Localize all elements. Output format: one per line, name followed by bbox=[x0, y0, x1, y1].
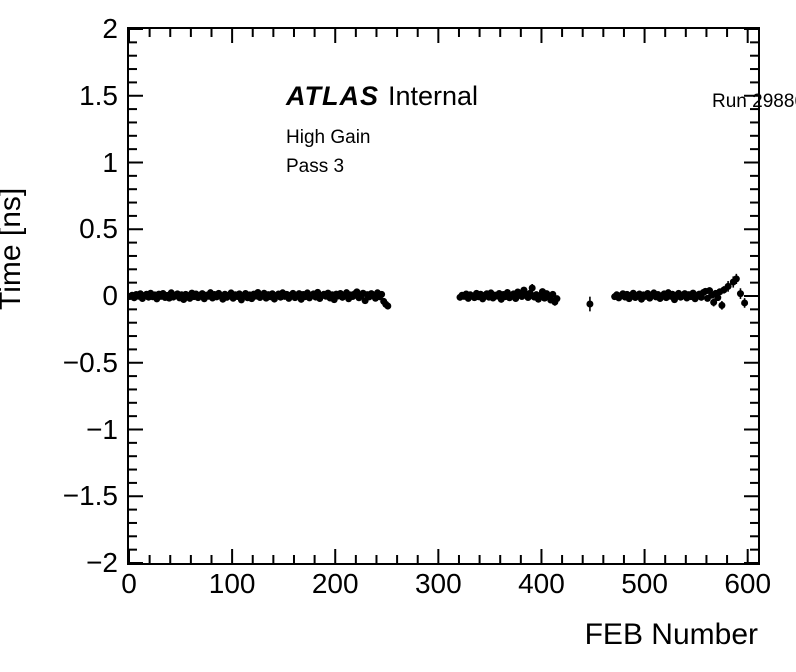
x-tick-label: 400 bbox=[481, 570, 601, 598]
data-point bbox=[737, 290, 744, 297]
x-tick-label: 500 bbox=[585, 570, 705, 598]
x-tick-label: 100 bbox=[172, 570, 292, 598]
x-axis-title: FEB Number bbox=[460, 618, 758, 652]
gain-label: High Gain bbox=[286, 127, 371, 149]
data-point bbox=[718, 302, 725, 309]
data-point bbox=[384, 303, 391, 310]
run-number-label: Run 298862 bbox=[712, 91, 796, 113]
atlas-status-label: Internal bbox=[388, 81, 478, 111]
data-point bbox=[553, 295, 560, 302]
plot-frame: ATLASInternal High Gain Pass 3 Run 29886… bbox=[127, 27, 760, 565]
atlas-label: ATLASInternal bbox=[286, 81, 478, 112]
atlas-experiment-label: ATLAS bbox=[286, 81, 388, 111]
data-point bbox=[733, 275, 740, 282]
figure-canvas: Time [ns] −2−1.5−1−0.500.511.52 01002003… bbox=[0, 0, 796, 672]
pass-label: Pass 3 bbox=[286, 156, 344, 178]
data-point bbox=[741, 299, 748, 306]
x-tick-label: 300 bbox=[378, 570, 498, 598]
x-tick-label: 600 bbox=[688, 570, 796, 598]
x-tick-label: 200 bbox=[275, 570, 395, 598]
data-point bbox=[378, 291, 385, 298]
data-point bbox=[529, 284, 536, 291]
data-points bbox=[129, 275, 748, 309]
data-point bbox=[586, 301, 593, 308]
x-tick-label: 0 bbox=[69, 570, 189, 598]
